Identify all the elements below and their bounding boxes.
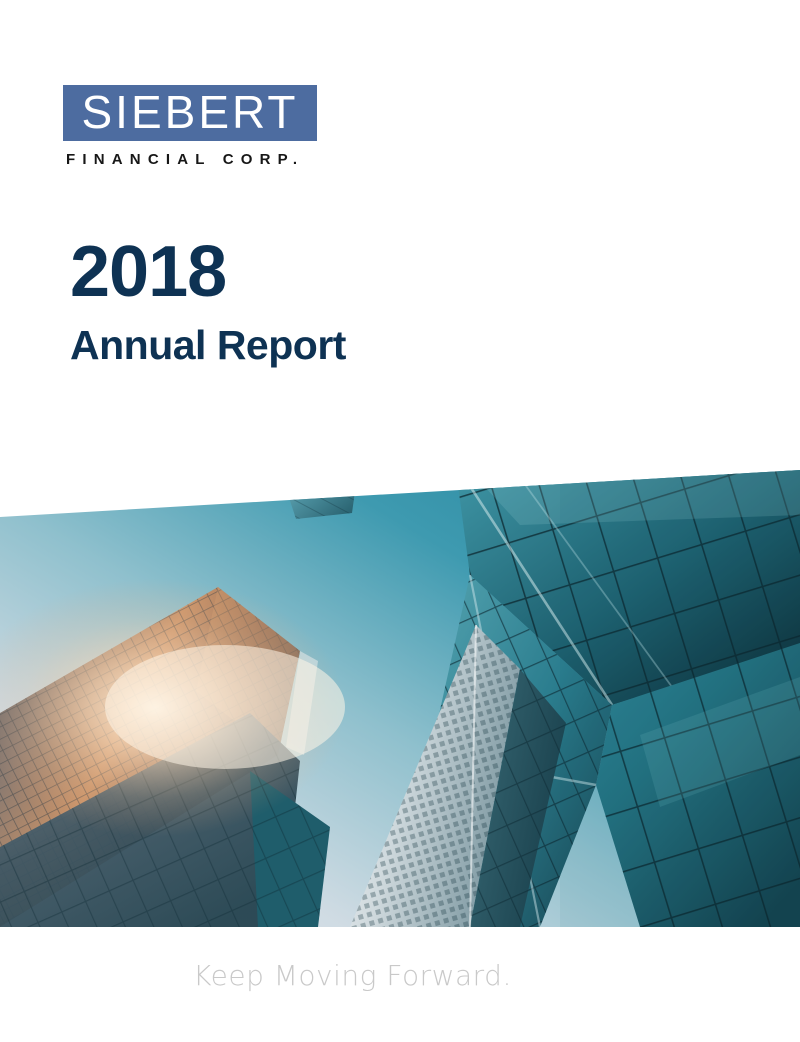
annual-report-cover-page: SIEBERT FINANCIAL CORP. 2018 Annual Repo… (0, 0, 800, 1042)
cover-title-block: 2018 Annual Report (70, 236, 346, 366)
company-logo: SIEBERT FINANCIAL CORP. (63, 85, 317, 167)
logo-blue-box: SIEBERT (63, 85, 317, 141)
logo-subtitle: FINANCIAL CORP. (63, 152, 317, 167)
report-type-label: Annual Report (70, 325, 346, 366)
cover-tagline: Keep Moving Forward. (0, 959, 800, 993)
skyscraper-illustration (0, 455, 800, 927)
logo-wordmark: SIEBERT (82, 89, 299, 135)
report-year: 2018 (70, 236, 346, 308)
cover-photograph (0, 455, 800, 927)
